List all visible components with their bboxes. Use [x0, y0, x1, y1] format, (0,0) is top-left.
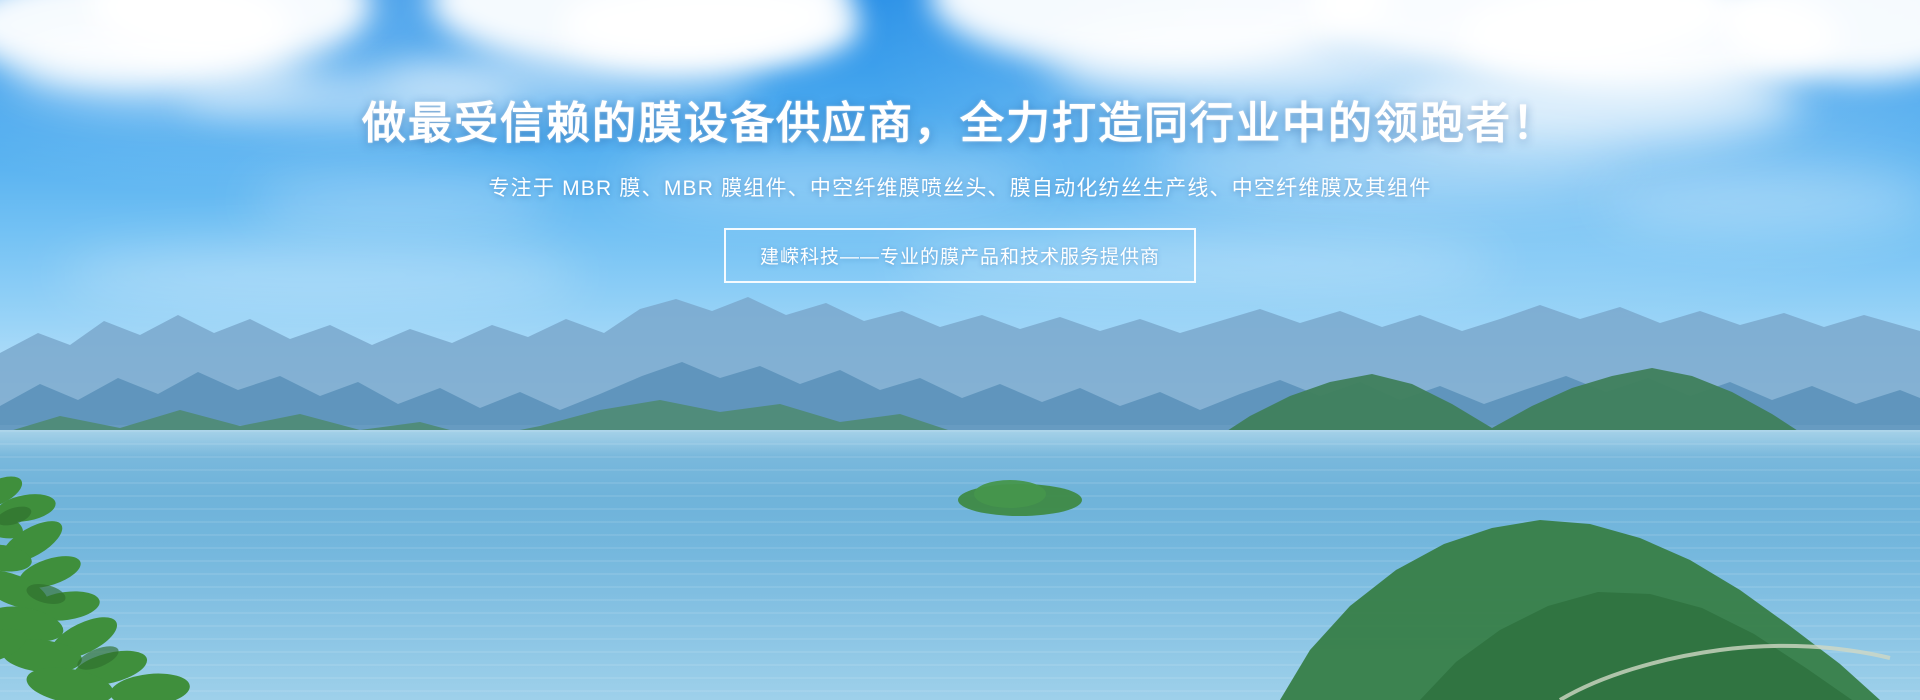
tagline-wrapper: 建嵘科技——专业的膜产品和技术服务提供商 [0, 202, 1920, 283]
tagline-box: 建嵘科技——专业的膜产品和技术服务提供商 [724, 228, 1196, 283]
right-shore-overlay [0, 400, 1920, 700]
banner-content: 做最受信赖的膜设备供应商，全力打造同行业中的领跑者！ 专注于 MBR 膜、MBR… [0, 0, 1920, 283]
hero-banner: 做最受信赖的膜设备供应商，全力打造同行业中的领跑者！ 专注于 MBR 膜、MBR… [0, 0, 1920, 700]
banner-headline: 做最受信赖的膜设备供应商，全力打造同行业中的领跑者！ [0, 0, 1920, 150]
foreground-foliage [0, 400, 240, 700]
banner-subtitle: 专注于 MBR 膜、MBR 膜组件、中空纤维膜喷丝头、膜自动化纺丝生产线、中空纤… [0, 150, 1920, 202]
